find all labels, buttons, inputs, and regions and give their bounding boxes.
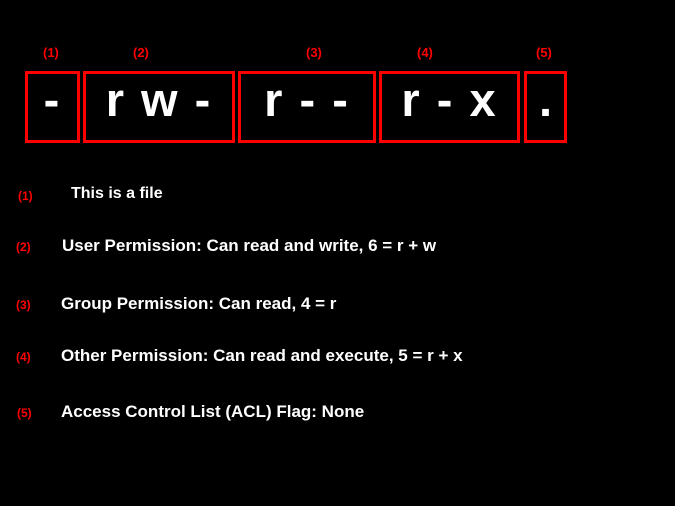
legend-marker-1: (1) <box>18 190 33 202</box>
permission-segment-glyphs-1: - <box>44 72 62 128</box>
legend-row-4: (4)Other Permission: Can read and execut… <box>0 345 675 371</box>
permission-segment-3: r - - <box>238 71 376 143</box>
permission-segment-5: . <box>524 71 567 143</box>
legend-row-3: (3)Group Permission: Can read, 4 = r <box>0 293 675 319</box>
callout-number-1: (1) <box>43 46 59 59</box>
permission-segment-4: r - x <box>379 71 520 143</box>
callout-number-4: (4) <box>417 46 433 59</box>
legend-text-5: Access Control List (ACL) Flag: None <box>61 403 364 420</box>
legend-text-4: Other Permission: Can read and execute, … <box>61 347 463 364</box>
legend-marker-2: (2) <box>16 241 31 253</box>
legend-row-5: (5)Access Control List (ACL) Flag: None <box>0 401 675 427</box>
permission-segment-glyphs-4: r - x <box>401 72 497 128</box>
callout-number-2: (2) <box>133 46 149 59</box>
legend-row-1: (1)This is a file <box>0 184 675 210</box>
legend-text-3: Group Permission: Can read, 4 = r <box>61 295 336 312</box>
legend-text-2: User Permission: Can read and write, 6 =… <box>62 237 436 254</box>
permission-segment-glyphs-3: r - - <box>264 72 350 128</box>
callout-number-5: (5) <box>536 46 552 59</box>
legend-row-2: (2)User Permission: Can read and write, … <box>0 235 675 261</box>
permission-segment-2: r w - <box>83 71 235 143</box>
permission-segment-glyphs-2: r w - <box>106 72 213 128</box>
permissions-diagram: (1)(2)(3)(4)(5) -r w -r - -r - x. (1)Thi… <box>0 0 675 506</box>
legend-marker-5: (5) <box>17 407 32 419</box>
legend-marker-4: (4) <box>16 351 31 363</box>
permission-segment-1: - <box>25 71 80 143</box>
permission-segment-glyphs-5: . <box>539 72 552 128</box>
legend-text-1: This is a file <box>71 186 163 202</box>
callout-number-3: (3) <box>306 46 322 59</box>
legend-marker-3: (3) <box>16 299 31 311</box>
